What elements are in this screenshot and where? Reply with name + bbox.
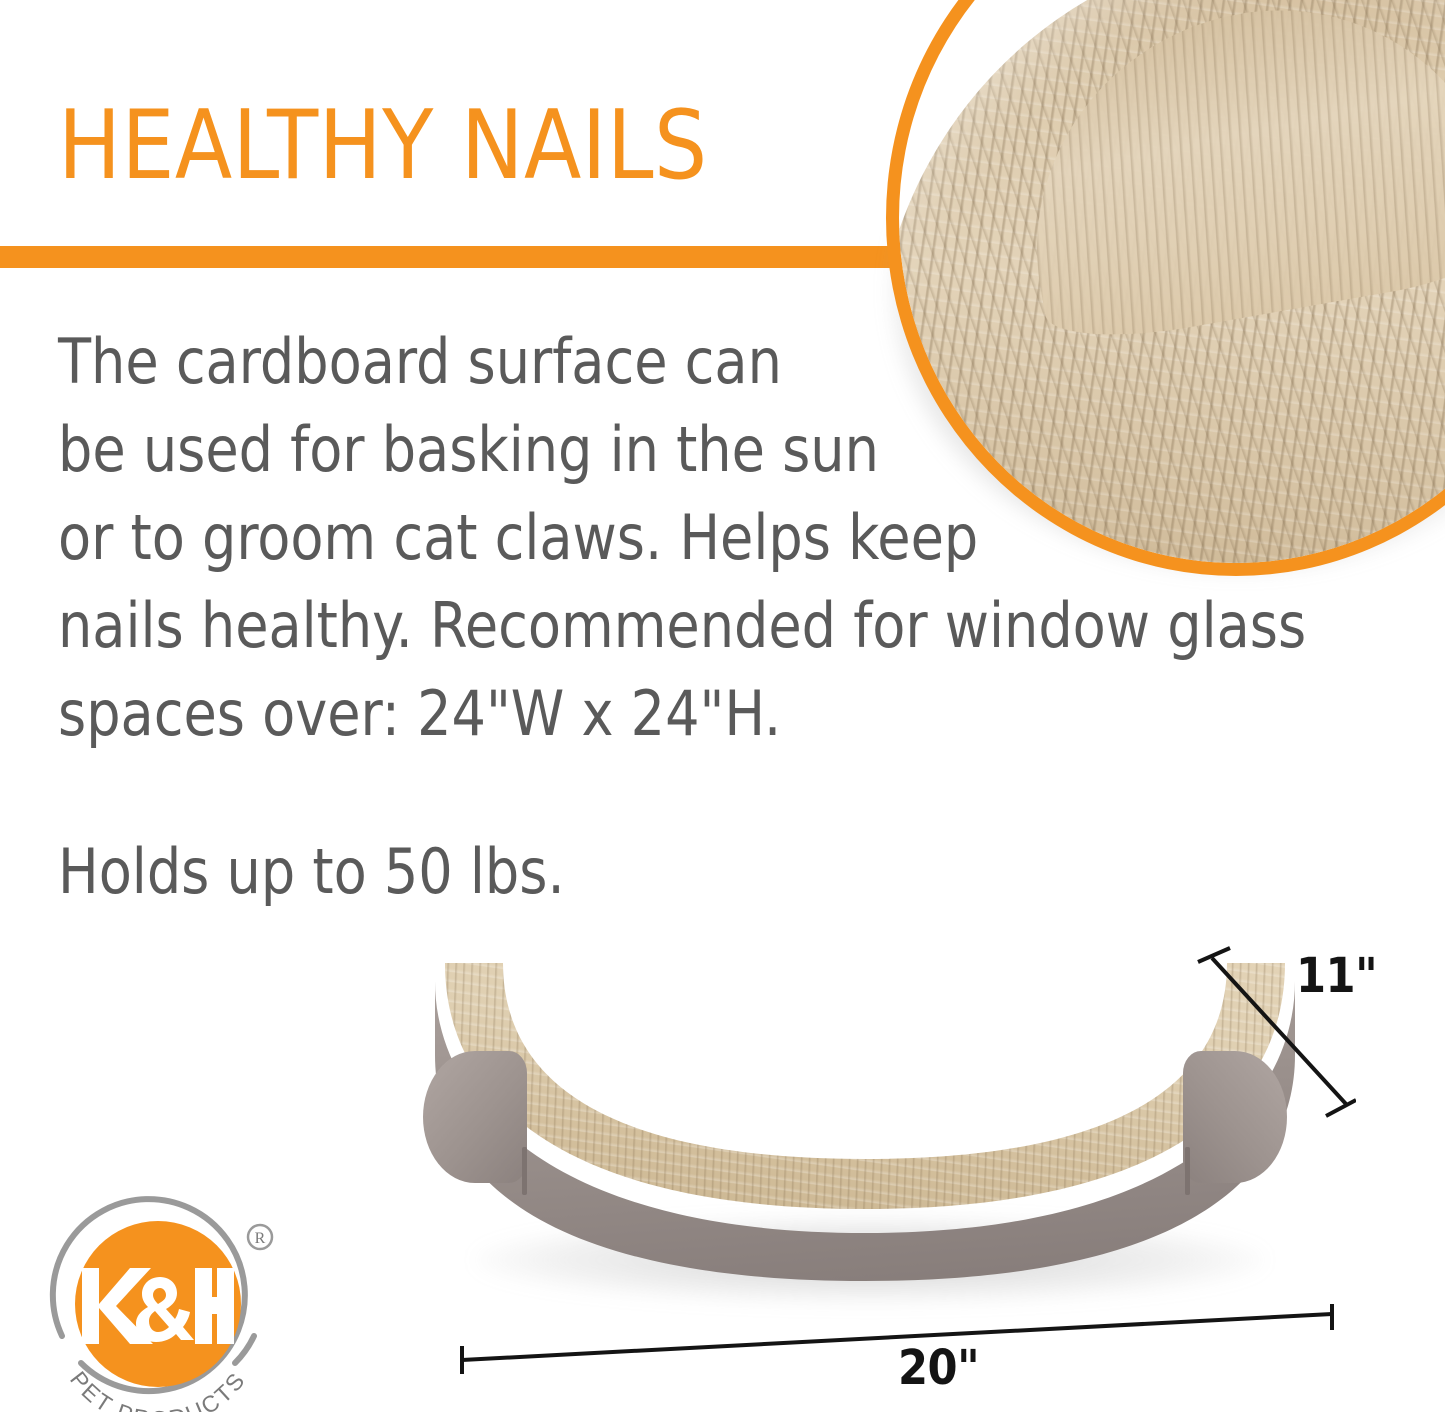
width-dimension-line [452,1304,1342,1380]
corrugated-highlight [1000,0,1445,352]
description-line-2: be used for basking in the sun [58,406,1387,494]
weight-capacity-text: Holds up to 50 lbs. [58,828,565,916]
product-notch-left [522,1147,527,1195]
description-line-5: spaces over: 24"W x 24"H. [58,670,1387,758]
infographic-page: HEALTHY NAILS The cardboard surface can … [0,0,1445,1418]
product-end-cap-left [423,1051,527,1183]
description-line-3: or to groom cat claws. Helps keep [58,494,1387,582]
description-line-4: nails healthy. Recommended for window gl… [58,582,1387,670]
brand-logo: R PET PRODUCTS [38,1196,296,1412]
description-line-1: The cardboard surface can [58,318,1387,406]
registered-trademark-icon: R [248,1225,272,1249]
width-dimension-label: 20" [898,1340,979,1396]
product-notch-right [1185,1147,1190,1195]
logo-outer-ring-right [235,1336,254,1363]
svg-text:R: R [255,1230,266,1247]
page-title: HEALTHY NAILS [58,96,862,196]
description-paragraph: The cardboard surface can be used for ba… [58,318,1387,758]
depth-dimension-label: 11" [1296,948,1377,1004]
header-rule-divider [0,246,900,268]
product-image [415,955,1315,1315]
